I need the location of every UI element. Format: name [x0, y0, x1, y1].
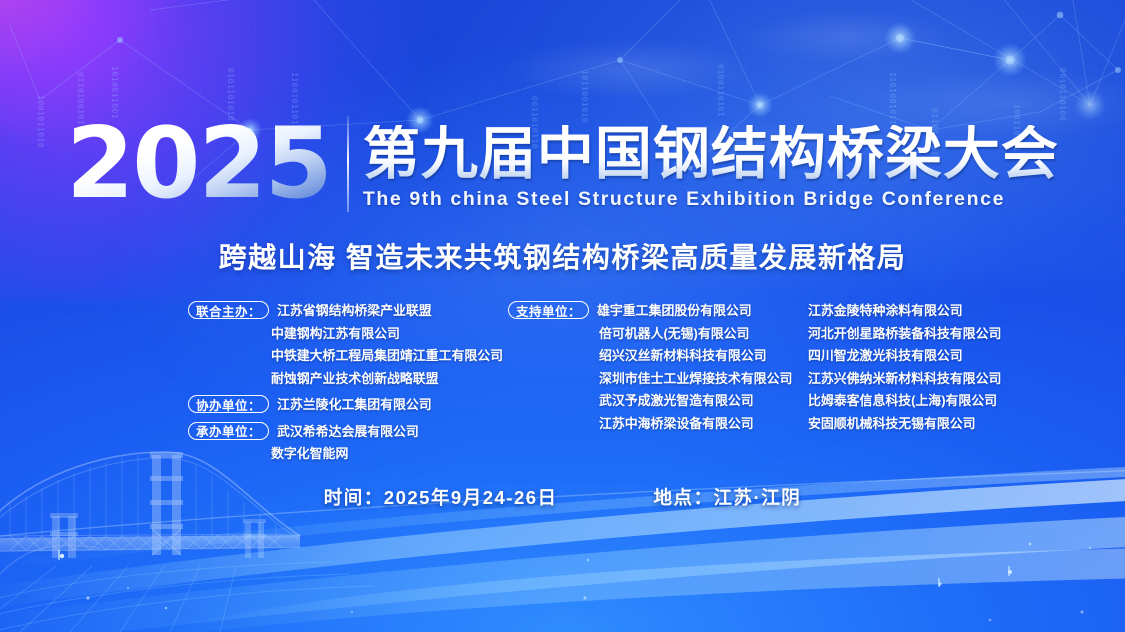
- sponsor-label-pill: 联合主办：: [188, 301, 269, 319]
- english-subtitle: The 9th china Steel Structure Exhibition…: [363, 188, 1059, 211]
- sponsor-row: 联合主办： 江苏省钢结构桥梁产业联盟: [188, 300, 508, 323]
- sponsor-org: 江苏省钢结构桥梁产业联盟: [277, 300, 432, 323]
- headline: 2025 第九届中国钢结构桥梁大会 The 9th china Steel St…: [0, 112, 1125, 224]
- sponsor-org: 耐蚀钢产业技术创新战略联盟: [271, 368, 439, 391]
- sponsor-org: 数字化智能网: [271, 443, 348, 466]
- event-details: 时间：2025年9月24-26日 地点：江苏·江阴: [0, 484, 1125, 510]
- headline-divider: [347, 116, 349, 212]
- sponsor-row: 绍兴汉丝新材料科技有限公司: [508, 345, 808, 368]
- sponsor-row: 江苏兴佛纳米新材料科技有限公司: [808, 368, 1108, 391]
- sponsor-row: 河北开创星路桥装备科技有限公司: [808, 323, 1108, 346]
- sponsor-row: 支持单位： 雄宇重工集团股份有限公司: [508, 300, 808, 323]
- sponsor-org: 武汉予成激光智造有限公司: [599, 390, 754, 413]
- sponsor-row: 数字化智能网: [188, 443, 508, 466]
- sponsor-label-pill: 支持单位：: [508, 301, 589, 319]
- sponsor-column-left: 联合主办： 江苏省钢结构桥梁产业联盟 中建钢构江苏有限公司 中铁建大桥工程局集团…: [188, 300, 508, 466]
- sponsor-label-pill: 承办单位：: [188, 422, 269, 440]
- sponsor-org: 倍可机器人(无锡)有限公司: [599, 323, 749, 346]
- sponsor-row: 比姆泰客信息科技(上海)有限公司: [808, 390, 1108, 413]
- page-title: 第九届中国钢结构桥梁大会: [363, 125, 1059, 184]
- sponsor-section: 联合主办： 江苏省钢结构桥梁产业联盟 中建钢构江苏有限公司 中铁建大桥工程局集团…: [0, 300, 1125, 450]
- year-2025: 2025: [66, 119, 347, 209]
- sponsor-org: 深圳市佳士工业焊接技术有限公司: [599, 368, 792, 391]
- sponsor-org: 安固顺机械科技无锡有限公司: [808, 413, 976, 436]
- sponsor-row: 协办单位： 江苏兰陵化工集团有限公司: [188, 394, 508, 417]
- sponsor-org: 江苏金陵特种涂料有限公司: [808, 300, 963, 323]
- sponsor-org: 江苏中海桥梁设备有限公司: [599, 413, 754, 436]
- sponsor-org: 雄宇重工集团股份有限公司: [597, 300, 752, 323]
- sponsor-column-right: 江苏金陵特种涂料有限公司 河北开创星路桥装备科技有限公司 四川智龙激光科技有限公…: [808, 300, 1108, 435]
- sponsor-row: 江苏金陵特种涂料有限公司: [808, 300, 1108, 323]
- slogan: 跨越山海 智造未来共筑钢结构桥梁高质量发展新格局: [0, 236, 1125, 276]
- sponsor-label-pill: 协办单位：: [188, 395, 269, 413]
- event-place: 地点：江苏·江阴: [654, 484, 802, 510]
- sponsor-row: 江苏中海桥梁设备有限公司: [508, 413, 808, 436]
- sponsor-org: 比姆泰客信息科技(上海)有限公司: [808, 390, 997, 413]
- sponsor-row: 耐蚀钢产业技术创新战略联盟: [188, 368, 508, 391]
- sponsor-row: 武汉予成激光智造有限公司: [508, 390, 808, 413]
- sponsor-org: 武汉希希达会展有限公司: [277, 421, 419, 444]
- sponsor-org: 江苏兰陵化工集团有限公司: [277, 394, 432, 417]
- sponsor-row: 承办单位： 武汉希希达会展有限公司: [188, 421, 508, 444]
- sponsor-row: 深圳市佳士工业焊接技术有限公司: [508, 368, 808, 391]
- sponsor-row: 安固顺机械科技无锡有限公司: [808, 413, 1108, 436]
- sponsor-row: 倍可机器人(无锡)有限公司: [508, 323, 808, 346]
- sponsor-org: 河北开创星路桥装备科技有限公司: [808, 323, 1001, 346]
- sponsor-row: 四川智龙激光科技有限公司: [808, 345, 1108, 368]
- event-time: 时间：2025年9月24-26日: [324, 484, 558, 510]
- sponsor-org: 绍兴汉丝新材料科技有限公司: [599, 345, 767, 368]
- sponsor-row: 中铁建大桥工程局集团靖江重工有限公司: [188, 345, 508, 368]
- binary-column: 0100110101: [716, 64, 725, 117]
- sponsor-org: 中铁建大桥工程局集团靖江重工有限公司: [271, 345, 503, 368]
- sponsor-org: 中建钢构江苏有限公司: [271, 323, 400, 346]
- sponsor-column-middle: 支持单位： 雄宇重工集团股份有限公司 倍可机器人(无锡)有限公司 绍兴汉丝新材料…: [508, 300, 808, 435]
- sponsor-row: 中建钢构江苏有限公司: [188, 323, 508, 346]
- sponsor-org: 江苏兴佛纳米新材料科技有限公司: [808, 368, 1001, 391]
- sponsor-org: 四川智龙激光科技有限公司: [808, 345, 963, 368]
- conference-banner: 1001011010 0110100101 1010011001 0101101…: [0, 0, 1125, 632]
